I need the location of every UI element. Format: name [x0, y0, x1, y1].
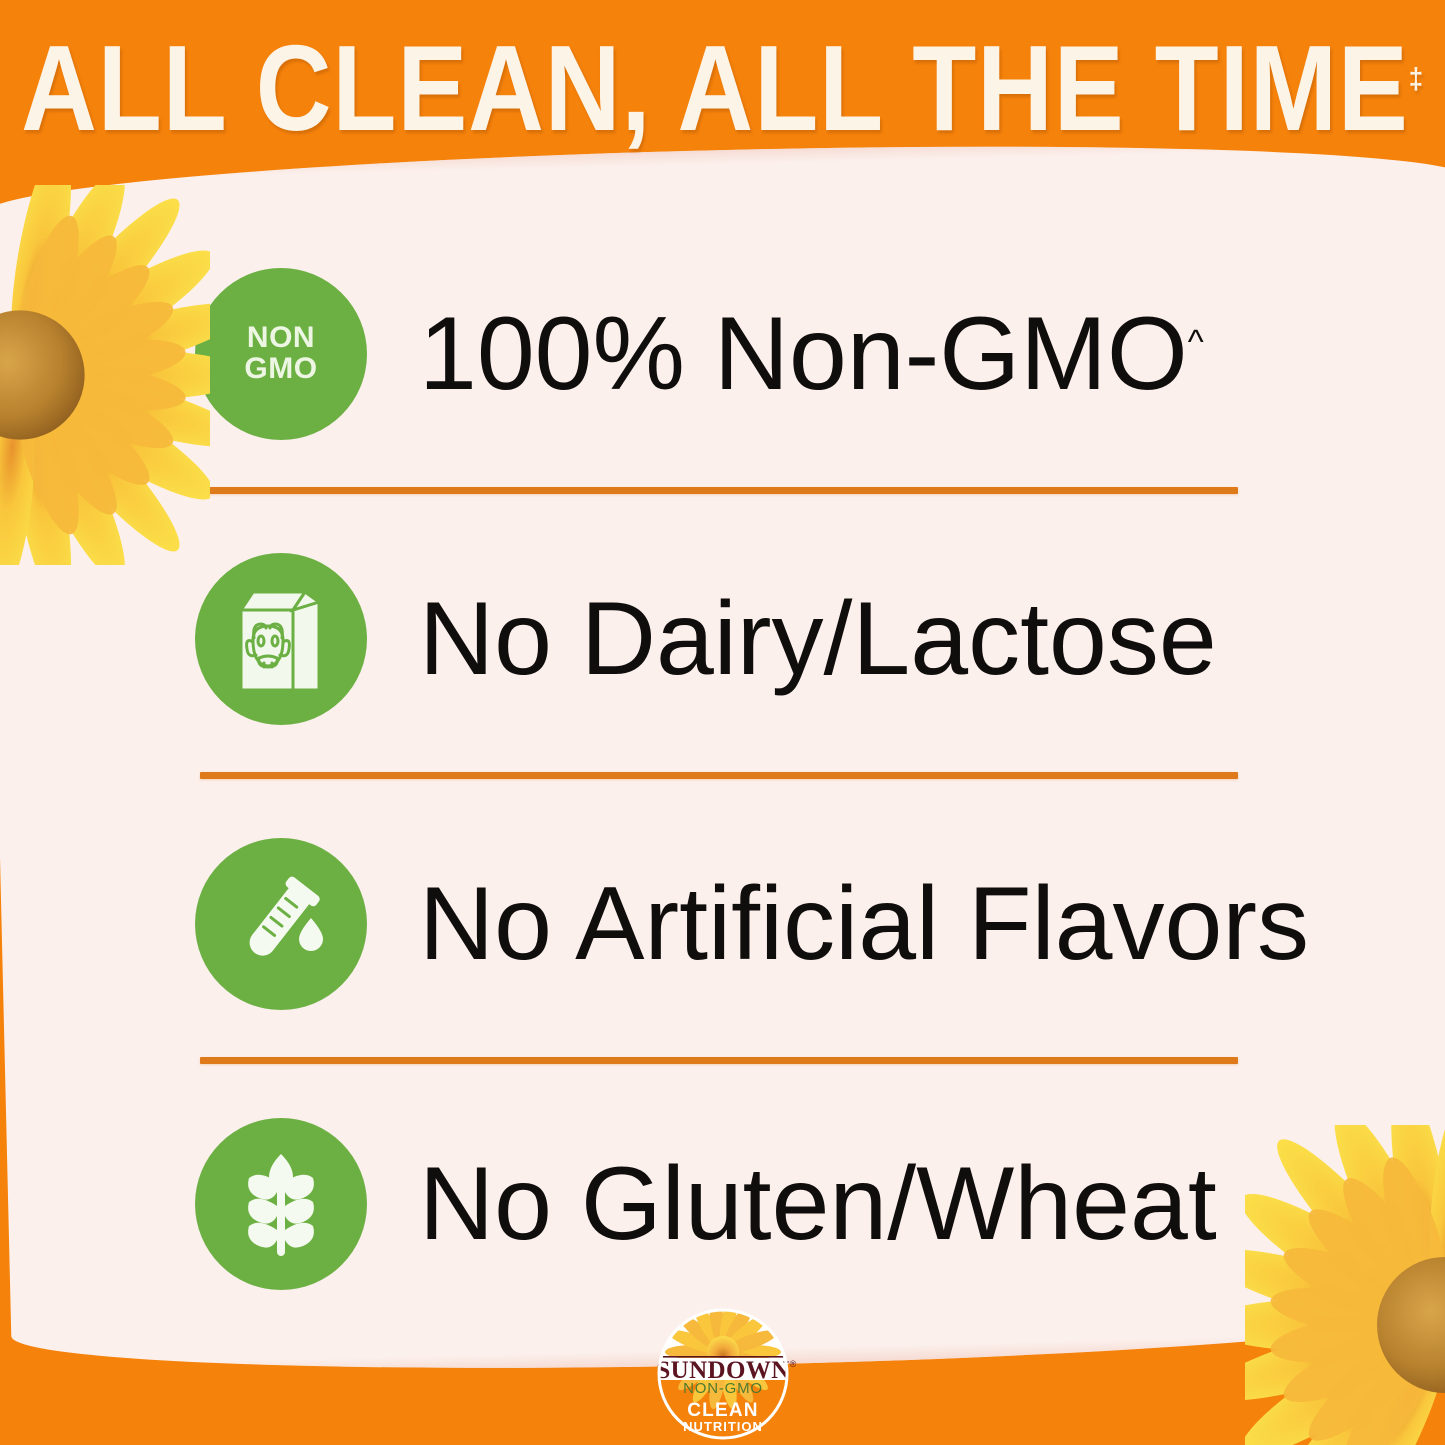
claim-row-non-gmo: NON GMO 100% Non-GMO^	[195, 268, 1330, 440]
claim-footnote-non-gmo: ^	[1188, 323, 1204, 361]
claim-label-flavors: No Artificial Flavors	[419, 872, 1309, 976]
wheat-stalk-glyph	[229, 1148, 333, 1260]
claim-label-gluten: No Gluten/Wheat	[419, 1152, 1217, 1256]
header-title: ALL CLEAN, ALL THE TIME‡	[22, 17, 1424, 149]
claims-list: NON GMO 100% Non-GMO^	[0, 0, 1445, 1445]
wheat-stalk-icon	[195, 1118, 367, 1290]
infographic-canvas: ALL CLEAN, ALL THE TIME‡ NON GMO 100% No…	[0, 0, 1445, 1445]
claim-row-gluten: No Gluten/Wheat	[195, 1118, 1330, 1290]
test-tube-droplet-glyph	[225, 868, 337, 980]
logo-subtitle-text: NON-GMO	[683, 1380, 763, 1397]
milk-carton-cow-icon	[195, 553, 367, 725]
logo-registered-mark: ®	[790, 1359, 797, 1369]
non-gmo-seal-line-2: GMO	[244, 354, 317, 385]
header-footnote-symbol: ‡	[1409, 62, 1423, 95]
claim-label-dairy-text: No Dairy/Lactose	[419, 581, 1217, 697]
sundown-logo: SUNDOWN ® NON-GMO CLEAN NUTRITION	[634, 1308, 812, 1440]
header-title-text: ALL CLEAN, ALL THE TIME	[22, 20, 1410, 156]
claim-label-non-gmo-text: 100% Non-GMO	[419, 296, 1188, 412]
claim-row-dairy: No Dairy/Lactose	[195, 553, 1330, 725]
claim-label-dairy: No Dairy/Lactose	[419, 587, 1217, 691]
non-gmo-seal-icon: NON GMO	[195, 268, 367, 440]
claim-row-flavors: No Artificial Flavors	[195, 838, 1330, 1010]
claim-label-gluten-text: No Gluten/Wheat	[419, 1146, 1217, 1262]
non-gmo-seal-line-1: NON	[244, 323, 317, 354]
header-banner: ALL CLEAN, ALL THE TIME‡	[0, 0, 1445, 165]
logo-tagline-line-1: CLEAN	[687, 1400, 758, 1421]
claim-label-non-gmo: 100% Non-GMO^	[419, 302, 1204, 406]
milk-carton-cow-glyph	[231, 580, 331, 698]
claim-label-flavors-text: No Artificial Flavors	[419, 866, 1309, 982]
non-gmo-seal-text: NON GMO	[244, 323, 317, 384]
test-tube-droplet-icon	[195, 838, 367, 1010]
